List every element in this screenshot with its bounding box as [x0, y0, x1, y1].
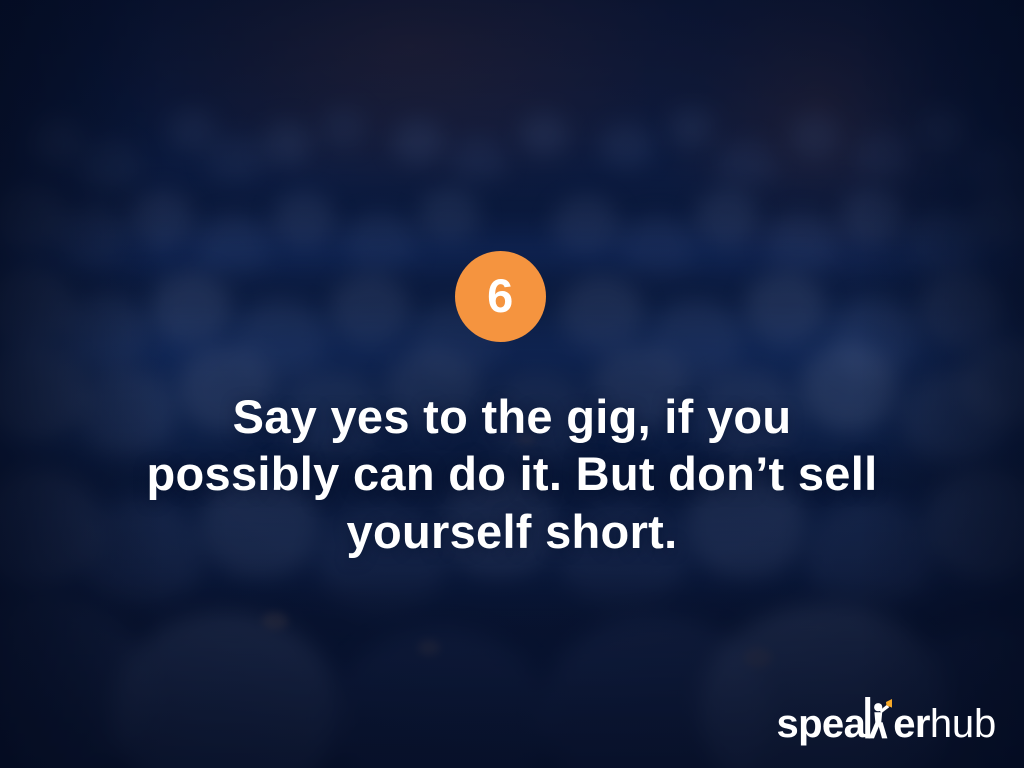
logo-text-hub: hub	[930, 704, 996, 744]
quote-line-2: possibly can do it. But don’t sell	[40, 445, 984, 502]
quote-slide: 6 Say yes to the gig, if you possibly ca…	[0, 0, 1024, 768]
quote-text: Say yes to the gig, if you possibly can …	[40, 388, 984, 560]
quote-line-1: Say yes to the gig, if you	[40, 388, 984, 445]
speakerhub-logo[interactable]: spea	[776, 697, 996, 741]
speaker-figure-megaphone-icon	[865, 697, 892, 737]
logo-wordmark: spea	[776, 697, 996, 744]
step-number-badge: 6	[455, 251, 546, 342]
slide-content: 6 Say yes to the gig, if you possibly ca…	[0, 0, 1024, 768]
quote-line-3: yourself short.	[40, 503, 984, 560]
logo-text-er: er	[893, 704, 930, 744]
step-number: 6	[487, 272, 514, 322]
logo-text-spea: spea	[776, 704, 865, 744]
